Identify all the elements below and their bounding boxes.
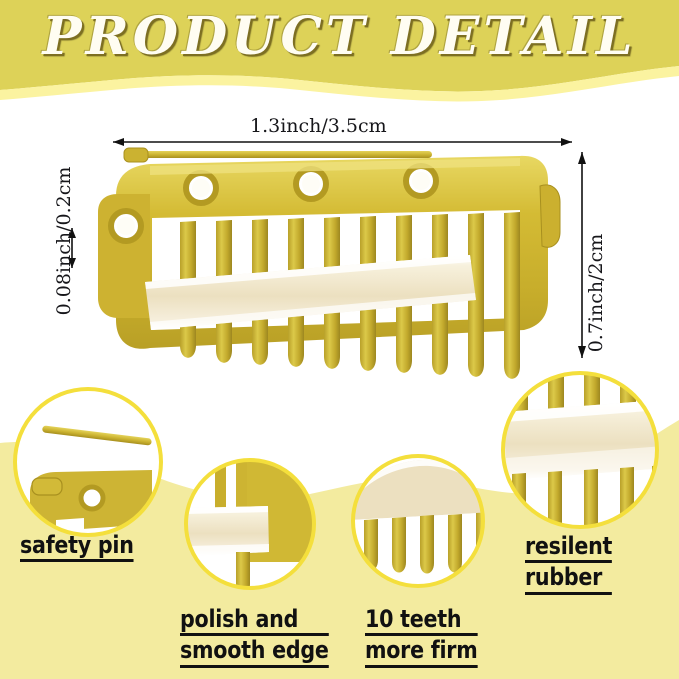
callout-line: resilent <box>525 534 612 563</box>
dimension-width-label: 1.3inch/3.5cm <box>250 115 387 137</box>
safety-pin-bar <box>124 148 432 162</box>
callout-circle-resilent-rubber <box>503 352 668 535</box>
product-detail-page: PRODUCT DETAIL 1.3inch/3.5cm 0.08inch/0.… <box>0 0 679 679</box>
callout-line: polish and <box>180 607 329 636</box>
rubber-strip <box>145 255 476 330</box>
callout-line: more firm <box>365 638 477 667</box>
dimension-thickness-label: 0.08inch/0.2cm <box>53 161 75 321</box>
dimension-height-label: 0.7inch/2cm <box>585 213 607 373</box>
clip-holes <box>111 166 436 241</box>
clip-teeth <box>180 212 520 379</box>
callout-circle-safety-pin <box>10 384 170 544</box>
callout-circle-polish-smooth-edge <box>186 452 352 593</box>
callout-label-resilent-rubber: resilent rubber <box>525 534 612 597</box>
callout-line: safety pin <box>20 533 134 562</box>
callout-circle-ten-teeth <box>346 455 497 587</box>
callout-line: smooth edge <box>180 638 329 667</box>
callout-line: 10 teeth <box>365 607 477 636</box>
page-title: PRODUCT DETAIL <box>0 6 679 67</box>
callout-label-polish-smooth-edge: polish and smooth edge <box>180 607 329 670</box>
callout-label-safety-pin: safety pin <box>20 533 134 564</box>
callout-label-ten-teeth: 10 teeth more firm <box>365 607 477 670</box>
product-hair-clip <box>98 148 560 379</box>
callout-line: rubber <box>525 565 612 594</box>
